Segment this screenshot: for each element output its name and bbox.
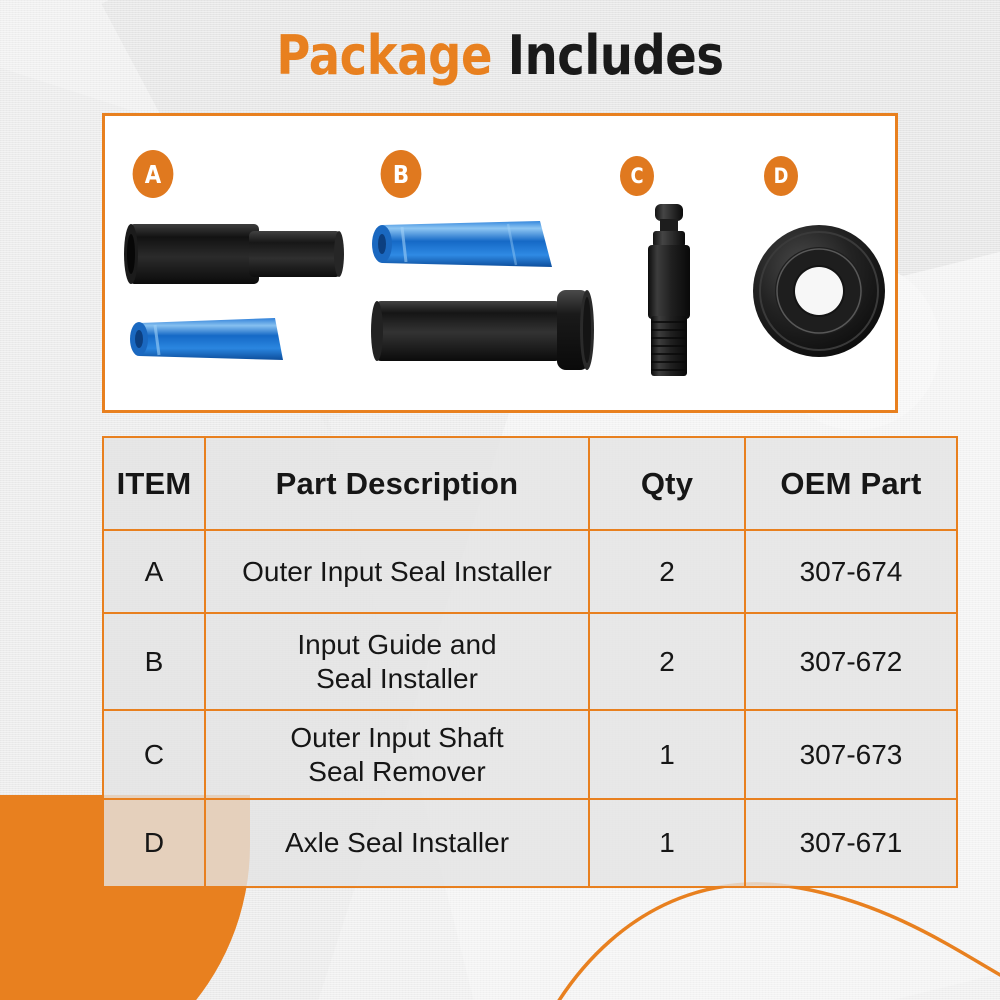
cell-qty: 2 bbox=[589, 613, 745, 710]
table-header-row: ITEM Part Description Qty OEM Part bbox=[103, 437, 957, 530]
column-header-item: ITEM bbox=[103, 437, 205, 530]
title-plain-word: Includes bbox=[508, 24, 724, 87]
part-image-black-axle-seal-disc bbox=[750, 222, 888, 360]
cell-description: Outer Input Shaft Seal Remover bbox=[205, 710, 589, 799]
table-row: A Outer Input Seal Installer 2 307-674 bbox=[103, 530, 957, 613]
column-header-part-description: Part Description bbox=[205, 437, 589, 530]
badge-c: C bbox=[620, 156, 654, 196]
table-row: B Input Guide and Seal Installer 2 307-6… bbox=[103, 613, 957, 710]
part-image-blue-tapered-installer-a bbox=[125, 316, 287, 362]
description-line: Seal Installer bbox=[212, 662, 582, 696]
cell-qty: 1 bbox=[589, 710, 745, 799]
table-row: D Axle Seal Installer 1 307-671 bbox=[103, 799, 957, 887]
part-image-blue-input-guide bbox=[370, 219, 556, 271]
cell-description: Input Guide and Seal Installer bbox=[205, 613, 589, 710]
cell-description: Outer Input Seal Installer bbox=[205, 530, 589, 613]
cell-item: D bbox=[103, 799, 205, 887]
badge-b: B bbox=[381, 150, 422, 198]
cell-oem: 307-673 bbox=[745, 710, 957, 799]
cell-oem: 307-674 bbox=[745, 530, 957, 613]
package-contents-table: ITEM Part Description Qty OEM Part A Out… bbox=[102, 436, 958, 888]
cell-qty: 1 bbox=[589, 799, 745, 887]
part-image-black-threaded-seal-remover bbox=[638, 202, 700, 378]
cell-item: B bbox=[103, 613, 205, 710]
table-row: C Outer Input Shaft Seal Remover 1 307-6… bbox=[103, 710, 957, 799]
product-image-panel: A B C D bbox=[102, 113, 898, 413]
column-header-qty: Qty bbox=[589, 437, 745, 530]
cell-qty: 2 bbox=[589, 530, 745, 613]
cell-oem: 307-671 bbox=[745, 799, 957, 887]
cell-description: Axle Seal Installer bbox=[205, 799, 589, 887]
column-header-oem-part: OEM Part bbox=[745, 437, 957, 530]
cell-oem: 307-672 bbox=[745, 613, 957, 710]
description-line: Input Guide and bbox=[212, 628, 582, 662]
description-line: Seal Remover bbox=[212, 755, 582, 789]
cell-item: C bbox=[103, 710, 205, 799]
part-image-black-flanged-cylinder bbox=[371, 289, 603, 371]
description-line: Axle Seal Installer bbox=[212, 826, 582, 860]
badge-d: D bbox=[764, 156, 798, 196]
title-accent-word: Package bbox=[276, 24, 492, 87]
part-image-black-two-stage-sleeve bbox=[123, 223, 345, 285]
badge-a: A bbox=[133, 150, 174, 198]
page-title: Package Includes bbox=[70, 26, 930, 86]
description-line: Outer Input Shaft bbox=[212, 721, 582, 755]
infographic-page: Package Includes A B C D bbox=[0, 0, 1000, 1000]
description-line: Outer Input Seal Installer bbox=[212, 555, 582, 589]
cell-item: A bbox=[103, 530, 205, 613]
